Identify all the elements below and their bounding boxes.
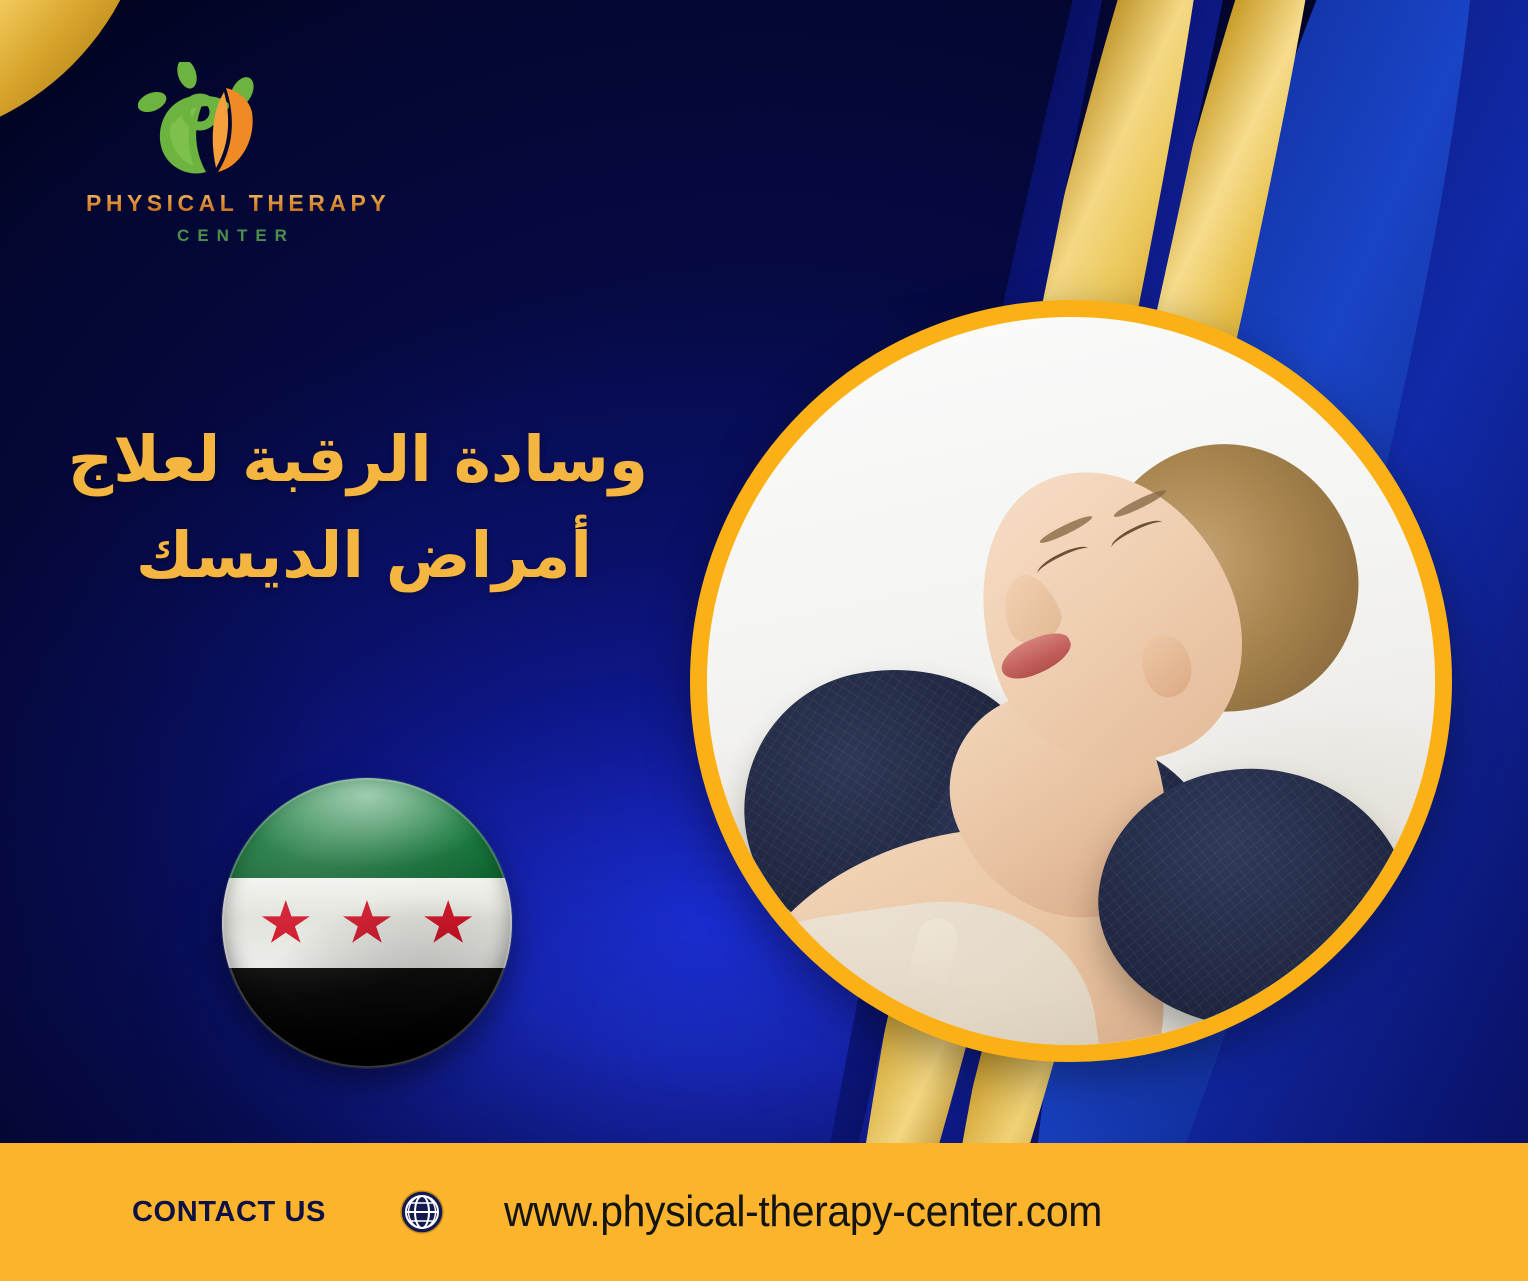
brand-logo: PHYSICAL THERAPY CENTER — [86, 62, 386, 267]
website-url[interactable]: www.physical-therapy-center.com — [504, 1187, 1102, 1237]
headline: وسادة الرقبة لعلاج أمراض الديسك — [28, 412, 648, 604]
headline-line-1: وسادة الرقبة لعلاج — [28, 412, 648, 508]
photo-vignette — [707, 317, 1435, 1045]
headline-line-2: أمراض الديسك — [28, 508, 648, 604]
logo-name-primary: PHYSICAL THERAPY — [86, 190, 386, 217]
contact-footer-bar: CONTACT US www.physical-therapy-center.c… — [0, 1143, 1528, 1281]
logo-name-secondary: CENTER — [86, 226, 386, 246]
globe-icon — [400, 1190, 444, 1234]
syria-independence-flag-badge-icon — [222, 778, 512, 1068]
product-photo-circle — [690, 300, 1452, 1062]
flag-rim — [222, 778, 512, 1068]
leaf-person-logo-icon — [138, 62, 266, 182]
neck-pillow-photo — [707, 317, 1435, 1045]
promo-poster: PHYSICAL THERAPY CENTER وسادة الرقبة لعل… — [0, 0, 1528, 1281]
contact-us-label: CONTACT US — [132, 1196, 326, 1229]
